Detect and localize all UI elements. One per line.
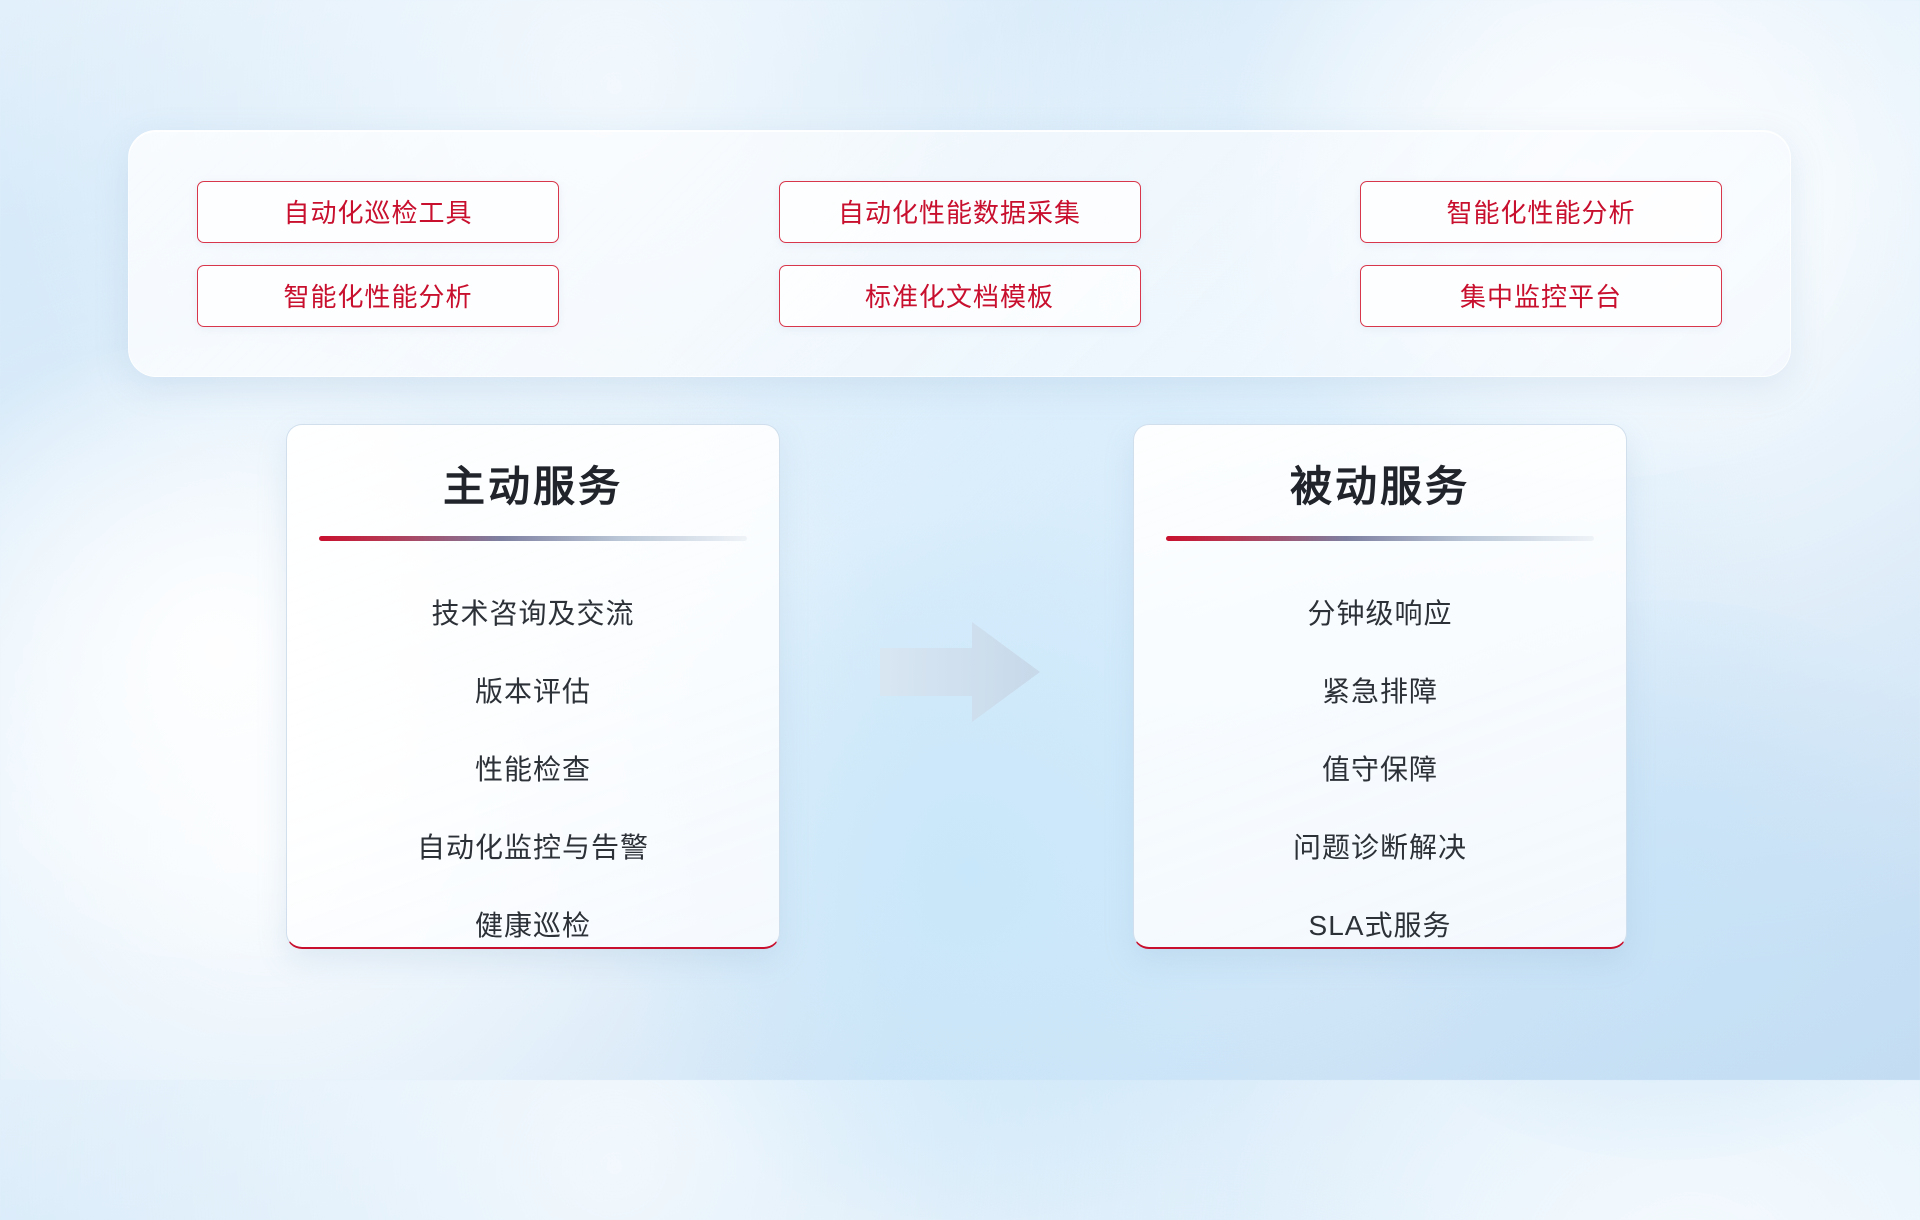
service-item[interactable]: SLA式服务 bbox=[1309, 898, 1452, 954]
capability-tag[interactable]: 智能化性能分析 bbox=[1360, 181, 1722, 243]
service-card-title: 主动服务 bbox=[287, 453, 779, 514]
service-item-list: 技术咨询及交流 版本评估 性能检查 自动化监控与告警 健康巡检 bbox=[287, 575, 779, 965]
capability-tag-label: 自动化性能数据采集 bbox=[838, 193, 1081, 230]
service-card-reactive: 被动服务 分钟级响应 紧急排障 值守保障 问题诊断解决 SLA式服务 bbox=[1133, 424, 1627, 949]
right-arrow-icon bbox=[880, 622, 1040, 722]
service-item[interactable]: 技术咨询及交流 bbox=[431, 586, 634, 642]
capability-tag-label: 标准化文档模板 bbox=[865, 277, 1054, 314]
service-item[interactable]: 自动化监控与告警 bbox=[417, 820, 649, 876]
capability-tag-label: 智能化性能分析 bbox=[283, 277, 472, 314]
service-item[interactable]: 版本评估 bbox=[475, 664, 591, 720]
service-item[interactable]: 分钟级响应 bbox=[1307, 586, 1452, 642]
service-item[interactable]: 问题诊断解决 bbox=[1293, 820, 1467, 876]
capability-tags-panel: 自动化巡检工具 自动化性能数据采集 智能化性能分析 智能化性能分析 标准化文档模… bbox=[128, 130, 1791, 377]
service-item[interactable]: 性能检查 bbox=[475, 742, 591, 798]
capability-tag[interactable]: 标准化文档模板 bbox=[779, 265, 1141, 327]
title-divider bbox=[1166, 536, 1594, 541]
capability-tag-label: 自动化巡检工具 bbox=[283, 193, 472, 230]
service-item[interactable]: 健康巡检 bbox=[475, 898, 591, 954]
capability-tags-row-2: 智能化性能分析 标准化文档模板 集中监控平台 bbox=[197, 265, 1722, 327]
service-item[interactable]: 紧急排障 bbox=[1322, 664, 1438, 720]
service-item[interactable]: 值守保障 bbox=[1322, 742, 1438, 798]
title-divider bbox=[319, 536, 747, 541]
capability-tag-label: 集中监控平台 bbox=[1460, 277, 1622, 314]
capability-tags-row-1: 自动化巡检工具 自动化性能数据采集 智能化性能分析 bbox=[197, 181, 1722, 243]
service-card-title: 被动服务 bbox=[1134, 453, 1626, 514]
capability-tag[interactable]: 自动化性能数据采集 bbox=[779, 181, 1141, 243]
capability-tag[interactable]: 智能化性能分析 bbox=[197, 265, 559, 327]
capability-tag[interactable]: 自动化巡检工具 bbox=[197, 181, 559, 243]
capability-tag-label: 智能化性能分析 bbox=[1446, 193, 1635, 230]
service-item-list: 分钟级响应 紧急排障 值守保障 问题诊断解决 SLA式服务 bbox=[1134, 575, 1626, 965]
capability-tag[interactable]: 集中监控平台 bbox=[1360, 265, 1722, 327]
service-card-proactive: 主动服务 技术咨询及交流 版本评估 性能检查 自动化监控与告警 健康巡检 bbox=[286, 424, 780, 949]
